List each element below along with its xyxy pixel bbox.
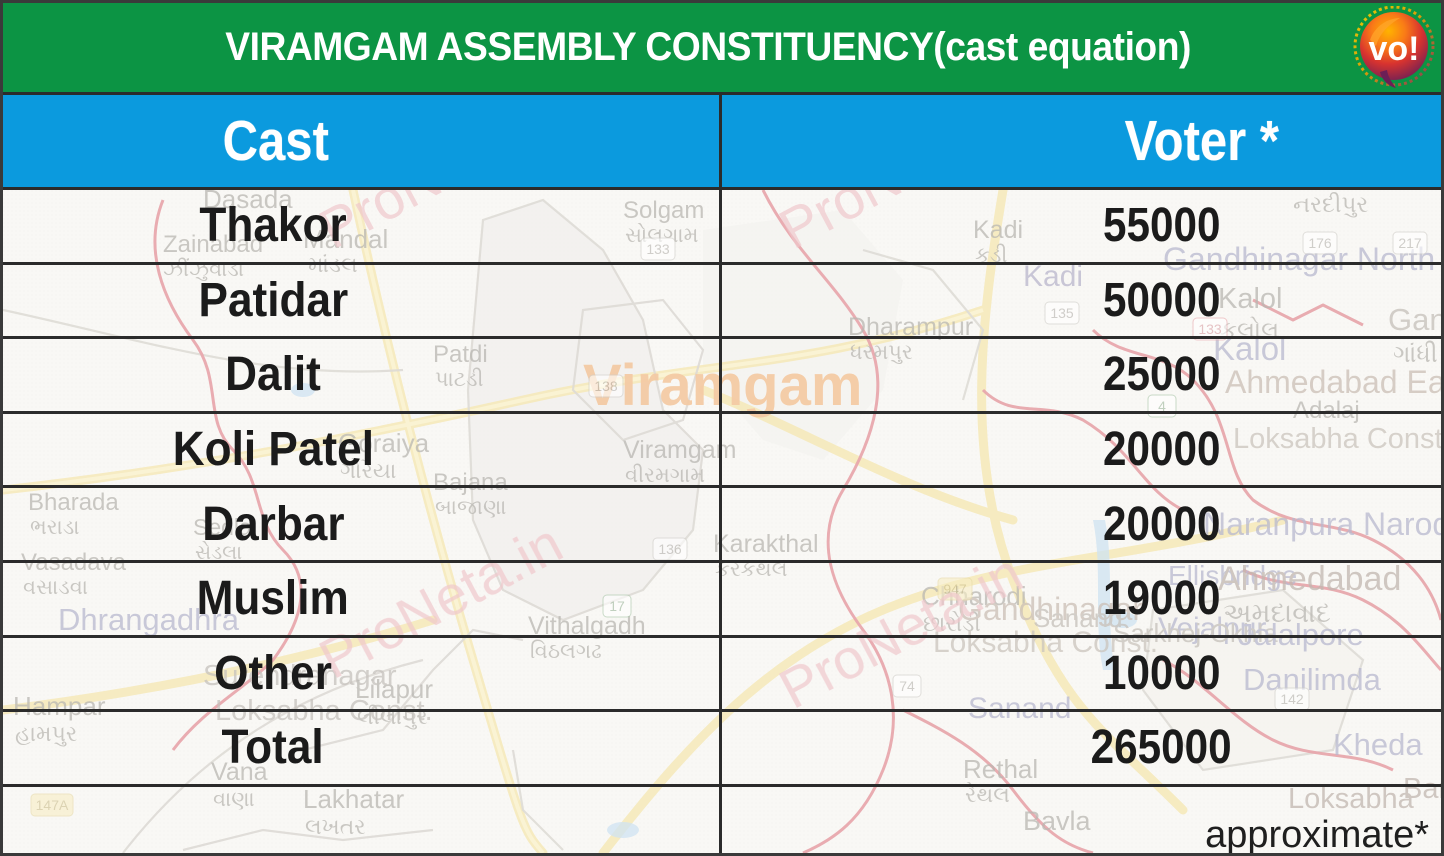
cast-cell: Dalit	[3, 339, 722, 411]
cast-cell: Darbar	[3, 488, 722, 560]
voter-cell: 19000	[722, 563, 1441, 635]
table-footer-row: approximate*	[3, 787, 1441, 856]
table-row: Muslim 19000	[3, 563, 1441, 638]
table-row: Other 10000	[3, 638, 1441, 713]
voter-cell: 265000	[722, 712, 1441, 784]
table-row: Darbar 20000	[3, 488, 1441, 563]
cast-table: Thakor 55000 Patidar 50000 Dalit 25000	[3, 190, 1441, 853]
voter-value: 20000	[1103, 422, 1220, 477]
voter-cell: 25000	[722, 339, 1441, 411]
cast-label: Darbar	[202, 497, 344, 552]
cast-label: Dalit	[225, 347, 321, 402]
cast-label: Total	[222, 720, 324, 775]
vo-logo: vo!	[1352, 6, 1436, 90]
voter-value: 265000	[1091, 720, 1232, 775]
table-row-total: Total 265000	[3, 712, 1441, 787]
column-header-cast: Cast	[3, 95, 722, 187]
cast-label: Other	[214, 646, 332, 701]
footnote-cell: approximate*	[722, 787, 1441, 856]
voter-cell: 50000	[722, 265, 1441, 337]
table-row: Patidar 50000	[3, 265, 1441, 340]
table-column-header: Cast Voter *	[3, 95, 1441, 190]
cast-cell: Thakor	[3, 190, 722, 262]
voter-cell: 20000	[722, 414, 1441, 486]
logo-text: vo!	[1369, 30, 1420, 68]
voter-value: 25000	[1103, 347, 1220, 402]
table-row: Dalit 25000	[3, 339, 1441, 414]
cast-cell: Total	[3, 712, 722, 784]
cast-label: Patidar	[198, 273, 348, 328]
page-title: VIRAMGAM ASSEMBLY CONSTITUENCY(cast equa…	[53, 25, 1390, 70]
column-header-voter: Voter *	[722, 95, 1441, 187]
cast-label: Koli Patel	[172, 422, 373, 477]
approximate-footnote: approximate*	[1205, 814, 1429, 856]
table-row: Thakor 55000	[3, 190, 1441, 265]
column-header-voter-label: Voter *	[1124, 108, 1278, 174]
cast-cell: Patidar	[3, 265, 722, 337]
voter-value: 55000	[1103, 198, 1220, 253]
voter-value: 50000	[1103, 273, 1220, 328]
table-row: Koli Patel 20000	[3, 414, 1441, 489]
cast-label: Thakor	[199, 198, 346, 253]
cast-cell: Muslim	[3, 563, 722, 635]
voter-cell: 55000	[722, 190, 1441, 262]
voter-value: 19000	[1103, 571, 1220, 626]
cast-cell: Koli Patel	[3, 414, 722, 486]
infographic-root: Dasada Mandal માંડલ Solgam સોલગામ Patdi …	[0, 0, 1444, 856]
voter-cell: 20000	[722, 488, 1441, 560]
title-bar: VIRAMGAM ASSEMBLY CONSTITUENCY(cast equa…	[3, 3, 1441, 95]
cast-cell: Other	[3, 638, 722, 710]
voter-value: 20000	[1103, 497, 1220, 552]
cast-cell-empty	[3, 787, 722, 856]
cast-label: Muslim	[197, 571, 349, 626]
voter-value: 10000	[1103, 646, 1220, 701]
voter-cell: 10000	[722, 638, 1441, 710]
column-header-cast-label: Cast	[223, 108, 329, 174]
